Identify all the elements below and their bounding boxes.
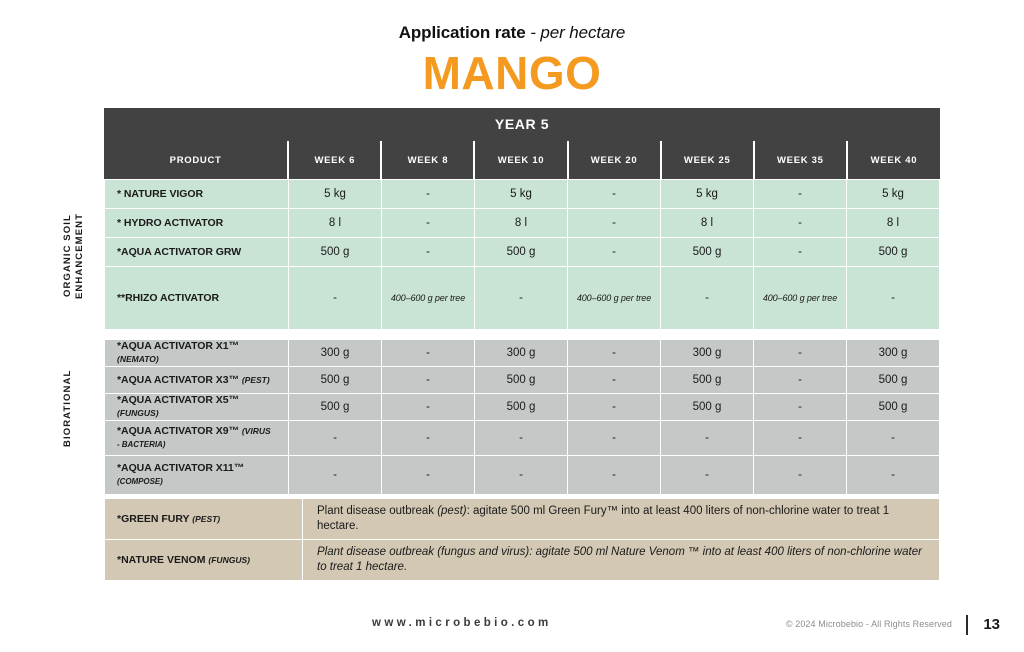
product-name: *AQUA ACTIVATOR X5™ (FUNGUS) — [105, 394, 289, 421]
product-qualifier: (FUNGUS) — [208, 555, 250, 565]
table-row: * NATURE VIGOR 5 kg - 5 kg - 5 kg - 5 kg — [105, 180, 940, 209]
table-row: *AQUA ACTIVATOR X11™(COMPOSE) - - - - - … — [105, 456, 940, 495]
rate-cell: - — [382, 340, 475, 367]
rate-cell: - — [475, 421, 568, 456]
biorational-section: *AQUA ACTIVATOR X1™ (NEMATO) 300 g - 300… — [104, 339, 940, 495]
rate-cell: 400–600 g per tree — [754, 267, 847, 330]
rate-cell: - — [754, 209, 847, 238]
rate-cell: - — [382, 394, 475, 421]
rate-cell: - — [568, 421, 661, 456]
product-qualifier: (PEST) — [242, 375, 270, 385]
table-row: *AQUA ACTIVATOR X9™ (VIRUS- BACTERIA) - … — [105, 421, 940, 456]
instruction-emphasis: (pest) — [437, 505, 466, 517]
title-subtitle: - per hectare — [530, 23, 625, 42]
product-label: *AQUA ACTIVATOR X5™ — [117, 394, 239, 406]
rate-cell: 500 g — [289, 238, 382, 267]
rate-cell: 500 g — [847, 394, 940, 421]
column-header-week-6: WEEK 6 — [288, 141, 381, 179]
table-row: *AQUA ACTIVATOR X3™ (PEST) 500 g - 500 g… — [105, 367, 940, 394]
rate-cell: - — [754, 180, 847, 209]
page-number: 13 — [983, 616, 1000, 633]
rate-cell: - — [568, 367, 661, 394]
table-row: * HYDRO ACTIVATOR 8 l - 8 l - 8 l - 8 l — [105, 209, 940, 238]
product-name: **RHIZO ACTIVATOR — [105, 267, 289, 330]
rate-cell: 500 g — [475, 238, 568, 267]
organic-soil-enhancement-section: * NATURE VIGOR 5 kg - 5 kg - 5 kg - 5 kg… — [104, 179, 940, 330]
title-main: Application rate — [399, 23, 526, 42]
page-footer: www.microbebio.com © 2024 Microbebio - A… — [0, 612, 1024, 640]
rate-cell: - — [289, 267, 382, 330]
column-header-row: PRODUCT WEEK 6 WEEK 8 WEEK 10 WEEK 20 WE… — [104, 141, 940, 179]
rate-cell: - — [847, 267, 940, 330]
footer-website[interactable]: www.microbebio.com — [372, 617, 552, 629]
product-qualifier: (VIRUS — [242, 426, 271, 436]
rate-cell: 300 g — [475, 340, 568, 367]
rate-cell: - — [382, 367, 475, 394]
rate-cell: 8 l — [289, 209, 382, 238]
column-header-week-8: WEEK 8 — [381, 141, 474, 179]
product-name: *AQUA ACTIVATOR X11™(COMPOSE) — [105, 456, 289, 495]
rate-cell: 500 g — [847, 238, 940, 267]
rate-cell: 8 l — [475, 209, 568, 238]
year-header-bar: YEAR 5 — [104, 108, 940, 141]
rate-cell: - — [382, 180, 475, 209]
rate-cell: 5 kg — [847, 180, 940, 209]
rate-cell: - — [382, 238, 475, 267]
rate-cell: 400–600 g per tree — [382, 267, 475, 330]
column-header-week-10: WEEK 10 — [474, 141, 567, 179]
rate-cell: 5 kg — [661, 180, 754, 209]
rate-cell: 400–600 g per tree — [568, 267, 661, 330]
rate-cell: - — [661, 267, 754, 330]
rate-cell: 500 g — [475, 367, 568, 394]
product-label: *AQUA ACTIVATOR X3™ — [117, 374, 239, 386]
product-name: * HYDRO ACTIVATOR — [105, 209, 289, 238]
rate-cell: 8 l — [847, 209, 940, 238]
product-qualifier: (PEST) — [192, 514, 220, 524]
product-name: * NATURE VIGOR — [105, 180, 289, 209]
table-row: *NATURE VENOM (FUNGUS) Plant disease out… — [105, 540, 940, 581]
rate-cell: - — [289, 421, 382, 456]
product-qualifier-2: (COMPOSE) — [117, 475, 282, 488]
rate-cell: - — [754, 340, 847, 367]
table-row: *AQUA ACTIVATOR X5™ (FUNGUS) 500 g - 500… — [105, 394, 940, 421]
rate-cell: - — [661, 456, 754, 495]
rate-cell: 500 g — [661, 238, 754, 267]
table-row: **RHIZO ACTIVATOR - 400–600 g per tree -… — [105, 267, 940, 330]
outbreak-instructions-section: *GREEN FURY (PEST) Plant disease outbrea… — [104, 498, 940, 581]
application-rate-table: YEAR 5 PRODUCT WEEK 6 WEEK 8 WEEK 10 WEE… — [104, 108, 940, 581]
product-name: *AQUA ACTIVATOR X3™ (PEST) — [105, 367, 289, 394]
rate-cell: - — [382, 456, 475, 495]
rate-cell: - — [754, 421, 847, 456]
footer-copyright: © 2024 Microbebio - All Rights Reserved — [786, 619, 952, 629]
product-name: *GREEN FURY (PEST) — [105, 499, 303, 540]
rate-cell: 500 g — [661, 394, 754, 421]
product-name: *AQUA ACTIVATOR X1™ (NEMATO) — [105, 340, 289, 367]
crop-name: MANGO — [0, 48, 1024, 98]
rate-cell: - — [754, 394, 847, 421]
rate-cell: 300 g — [847, 340, 940, 367]
page-header: Application rate - per hectare MANGO — [0, 22, 1024, 98]
section-divider — [104, 330, 940, 339]
product-name: *NATURE VENOM (FUNGUS) — [105, 540, 303, 581]
rate-cell: - — [568, 340, 661, 367]
section-label-organic-soil-enhancement: ORGANIC SOIL ENHANCEMENT — [62, 186, 86, 326]
rate-cell: - — [754, 456, 847, 495]
rate-cell: 5 kg — [289, 180, 382, 209]
column-header-table: PRODUCT WEEK 6 WEEK 8 WEEK 10 WEEK 20 WE… — [104, 141, 940, 179]
rate-cell: - — [754, 238, 847, 267]
rate-cell: - — [568, 456, 661, 495]
table-row: *GREEN FURY (PEST) Plant disease outbrea… — [105, 499, 940, 540]
rate-cell: 500 g — [847, 367, 940, 394]
rate-cell: 500 g — [289, 367, 382, 394]
product-qualifier: (FUNGUS) — [117, 408, 159, 418]
rate-cell: - — [568, 238, 661, 267]
rate-cell: - — [475, 267, 568, 330]
column-header-week-35: WEEK 35 — [754, 141, 847, 179]
rate-cell: - — [847, 456, 940, 495]
column-header-week-25: WEEK 25 — [661, 141, 754, 179]
section-label-biorational: BIORATIONAL — [62, 336, 74, 481]
product-label: *GREEN FURY — [117, 513, 189, 525]
instruction-text: Plant disease outbreak (fungus and virus… — [303, 540, 940, 581]
rate-cell: - — [568, 180, 661, 209]
rate-cell: - — [568, 209, 661, 238]
rate-cell: - — [847, 421, 940, 456]
instruction-pre: Plant disease outbreak — [317, 505, 437, 517]
column-header-week-40: WEEK 40 — [847, 141, 940, 179]
rate-cell: - — [475, 456, 568, 495]
rate-cell: 8 l — [661, 209, 754, 238]
rate-cell: 500 g — [661, 367, 754, 394]
rate-cell: 500 g — [289, 394, 382, 421]
rate-cell: 300 g — [289, 340, 382, 367]
rate-cell: 300 g — [661, 340, 754, 367]
rate-cell: - — [661, 421, 754, 456]
table-row: *AQUA ACTIVATOR X1™ (NEMATO) 300 g - 300… — [105, 340, 940, 367]
table-row: *AQUA ACTIVATOR GRW 500 g - 500 g - 500 … — [105, 238, 940, 267]
footer-divider — [966, 615, 968, 635]
column-header-week-20: WEEK 20 — [568, 141, 661, 179]
product-label: *AQUA ACTIVATOR X1™ — [117, 340, 239, 352]
rate-cell: - — [568, 394, 661, 421]
rate-cell: 5 kg — [475, 180, 568, 209]
rate-cell: 500 g — [475, 394, 568, 421]
column-header-product: PRODUCT — [104, 141, 288, 179]
rate-cell: - — [382, 209, 475, 238]
rate-cell: - — [754, 367, 847, 394]
page-title: Application rate - per hectare — [0, 22, 1024, 44]
product-qualifier-2: - BACTERIA) — [117, 438, 282, 451]
product-name: *AQUA ACTIVATOR X9™ (VIRUS- BACTERIA) — [105, 421, 289, 456]
instruction-text: Plant disease outbreak (pest): agitate 5… — [303, 499, 940, 540]
product-name: *AQUA ACTIVATOR GRW — [105, 238, 289, 267]
rate-cell: - — [289, 456, 382, 495]
product-qualifier: (NEMATO) — [117, 354, 159, 364]
product-label: *AQUA ACTIVATOR X11™ — [117, 462, 244, 474]
rate-cell: - — [382, 421, 475, 456]
product-label: *NATURE VENOM — [117, 554, 205, 566]
product-label: *AQUA ACTIVATOR X9™ — [117, 425, 239, 437]
